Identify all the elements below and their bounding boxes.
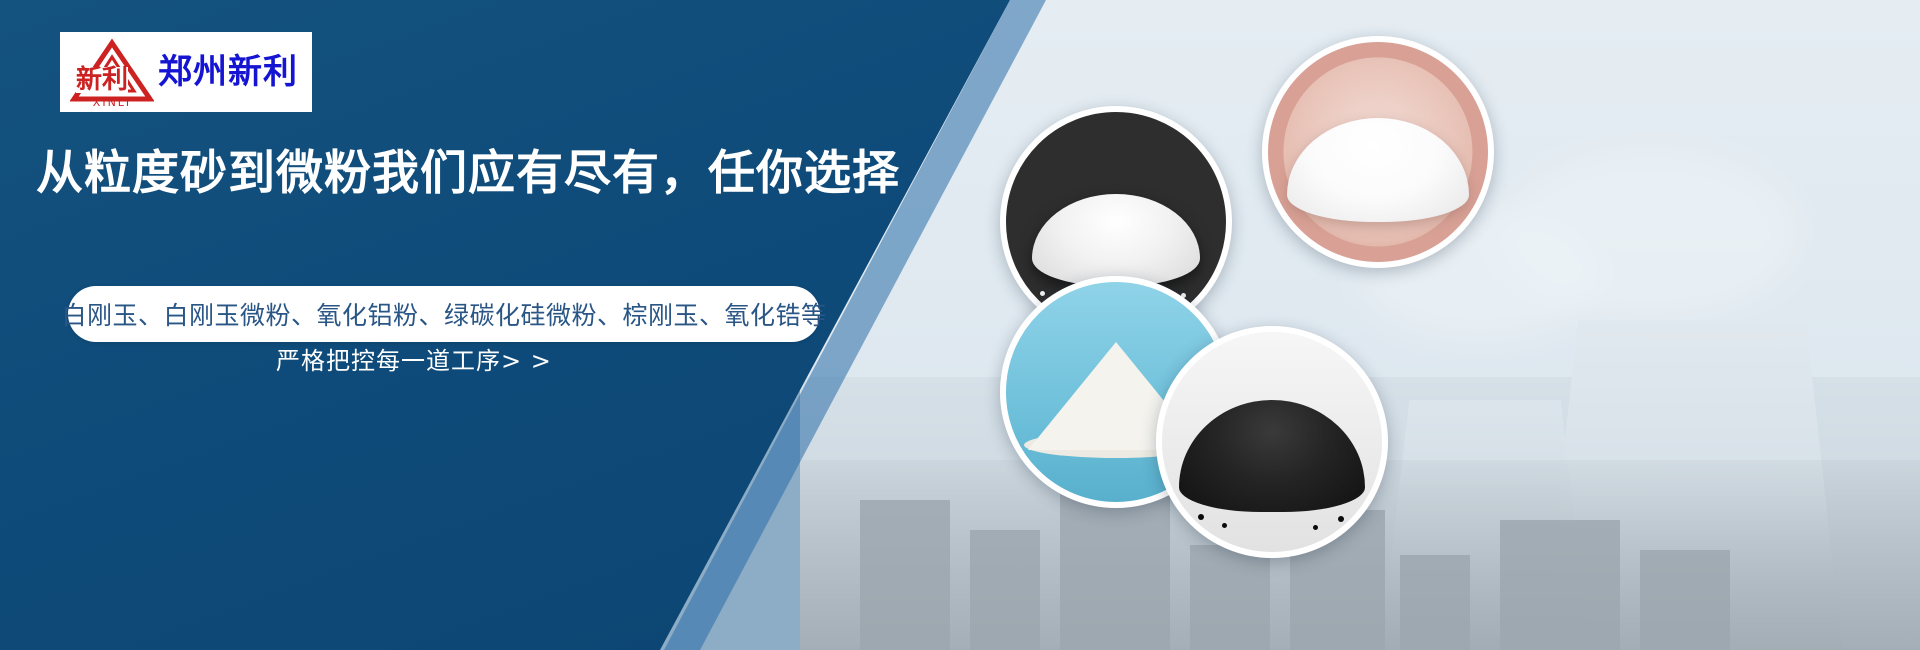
grain-speck [1313,525,1318,530]
grain-speck [1198,514,1204,520]
grain-speck [1338,516,1344,522]
product-photo-white-alumina-micropowder[interactable] [1262,36,1494,268]
process-control-link-label: 严格把控每一道工序> > [276,341,552,376]
grain-speck [1040,291,1045,296]
material-heap [1179,400,1365,512]
headline: 从粒度砂到微粉我们应有尽有，任你选择 [36,148,956,200]
product-photo-green-silicon-carbide-grit[interactable] [1156,326,1388,558]
company-name-text: 郑州新利 [158,55,298,89]
process-control-link[interactable]: 严格把控每一道工序> > [276,328,696,388]
company-logo[interactable]: 新利 XINLI 郑州新利 [60,32,312,112]
material-heap [1032,194,1200,286]
svg-text:XINLI: XINLI [93,96,131,107]
promo-banner: 新利 XINLI 郑州新利 从粒度砂到微粉我们应有尽有，任你选择 白刚玉、白刚玉… [0,0,1920,650]
product-list-text: 白刚玉、白刚玉微粉、氧化铝粉、绿碳化硅微粉、棕刚玉、氧化锆等 [62,296,827,332]
svg-text:新利: 新利 [76,64,128,95]
xinli-triangle-icon: 新利 XINLI [70,37,154,107]
grain-speck [1222,523,1227,528]
